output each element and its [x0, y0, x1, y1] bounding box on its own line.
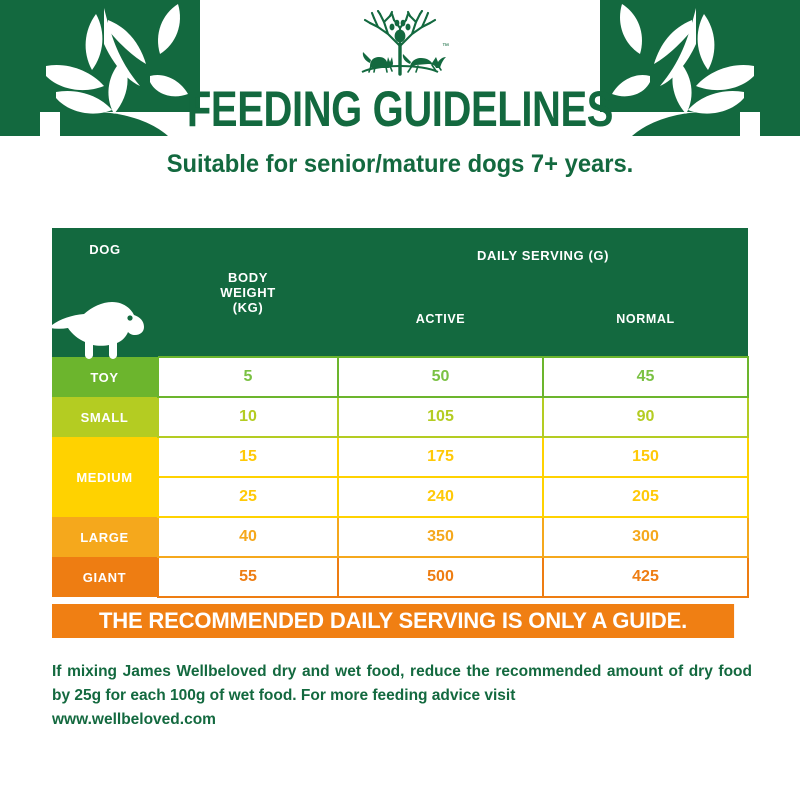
cell-active: 175	[338, 437, 543, 477]
feeding-guidelines-table: DOG BODY WEIGHT (KG) DAILY SERVING (G) A…	[52, 228, 749, 598]
header-body-weight-line3: (KG)	[158, 300, 338, 315]
cell-weight: 15	[158, 437, 338, 477]
dog-silhouette-icon	[44, 285, 156, 359]
cell-normal: 425	[543, 557, 748, 597]
table-row: LARGE 40 350 300	[52, 517, 748, 557]
cell-active: 50	[338, 357, 543, 397]
cell-weight: 25	[158, 477, 338, 517]
cell-normal: 205	[543, 477, 748, 517]
cell-active: 500	[338, 557, 543, 597]
cell-weight: 5	[158, 357, 338, 397]
trademark-mark: ™	[442, 43, 449, 50]
cell-weight: 40	[158, 517, 338, 557]
feeding-guidelines-table-wrapper: DOG BODY WEIGHT (KG) DAILY SERVING (G) A…	[52, 228, 748, 598]
header-dog-label: DOG	[52, 242, 158, 257]
header-cell-active: ACTIVE	[338, 282, 543, 357]
header-body-weight-line2: WEIGHT	[158, 285, 338, 300]
table-header-row-1: DOG BODY WEIGHT (KG) DAILY SERVING (G)	[52, 228, 748, 282]
row-label-large: LARGE	[52, 517, 158, 557]
cell-active: 350	[338, 517, 543, 557]
cell-active: 240	[338, 477, 543, 517]
footer-note: If mixing James Wellbeloved dry and wet …	[52, 660, 752, 732]
cell-weight: 10	[158, 397, 338, 437]
brand-logo: ™	[0, 10, 800, 82]
table-row: MEDIUM 15 175 150	[52, 437, 748, 477]
row-label-small: SMALL	[52, 397, 158, 437]
page-title: FEEDING GUIDELINES	[80, 80, 720, 138]
cell-weight: 55	[158, 557, 338, 597]
cell-active: 105	[338, 397, 543, 437]
row-label-giant: GIANT	[52, 557, 158, 597]
header-cell-body-weight: BODY WEIGHT (KG)	[158, 228, 338, 357]
header-cell-dog: DOG	[52, 228, 158, 357]
page-subtitle: Suitable for senior/mature dogs 7+ years…	[20, 148, 780, 180]
header-body-weight-line1: BODY	[158, 270, 338, 285]
table-row: GIANT 55 500 425	[52, 557, 748, 597]
row-label-toy: TOY	[52, 357, 158, 397]
header-cell-daily-serving: DAILY SERVING (G)	[338, 228, 748, 282]
row-label-medium: MEDIUM	[52, 437, 158, 517]
footer-paragraph: If mixing James Wellbeloved dry and wet …	[52, 663, 752, 704]
table-row: SMALL 10 105 90	[52, 397, 748, 437]
cell-normal: 300	[543, 517, 748, 557]
footer-website: www.wellbeloved.com	[52, 708, 752, 732]
table-row: TOY 5 50 45	[52, 357, 748, 397]
header-cell-normal: NORMAL	[543, 282, 748, 357]
guide-disclaimer-banner: THE RECOMMENDED DAILY SERVING IS ONLY A …	[52, 604, 734, 638]
cell-normal: 150	[543, 437, 748, 477]
cell-normal: 45	[543, 357, 748, 397]
cell-normal: 90	[543, 397, 748, 437]
